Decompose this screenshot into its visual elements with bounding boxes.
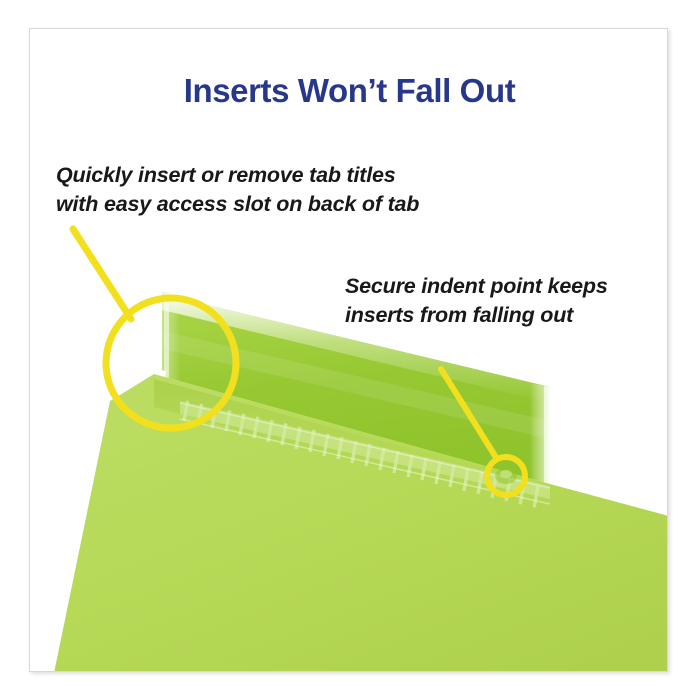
caption-indent-point: Secure indent point keeps inserts from f… <box>345 272 608 329</box>
product-illustration <box>30 29 668 672</box>
product-feature-graphic: Inserts Won’t Fall Out Quickly insert or… <box>0 0 700 700</box>
page-title: Inserts Won’t Fall Out <box>30 73 668 109</box>
clear-tab-overlay <box>530 383 550 484</box>
caption-access-slot: Quickly insert or remove tab titles with… <box>56 161 419 218</box>
product-photo <box>30 29 668 672</box>
product-image-card: Inserts Won’t Fall Out Quickly insert or… <box>29 28 668 672</box>
secure-indent-point <box>495 468 517 484</box>
